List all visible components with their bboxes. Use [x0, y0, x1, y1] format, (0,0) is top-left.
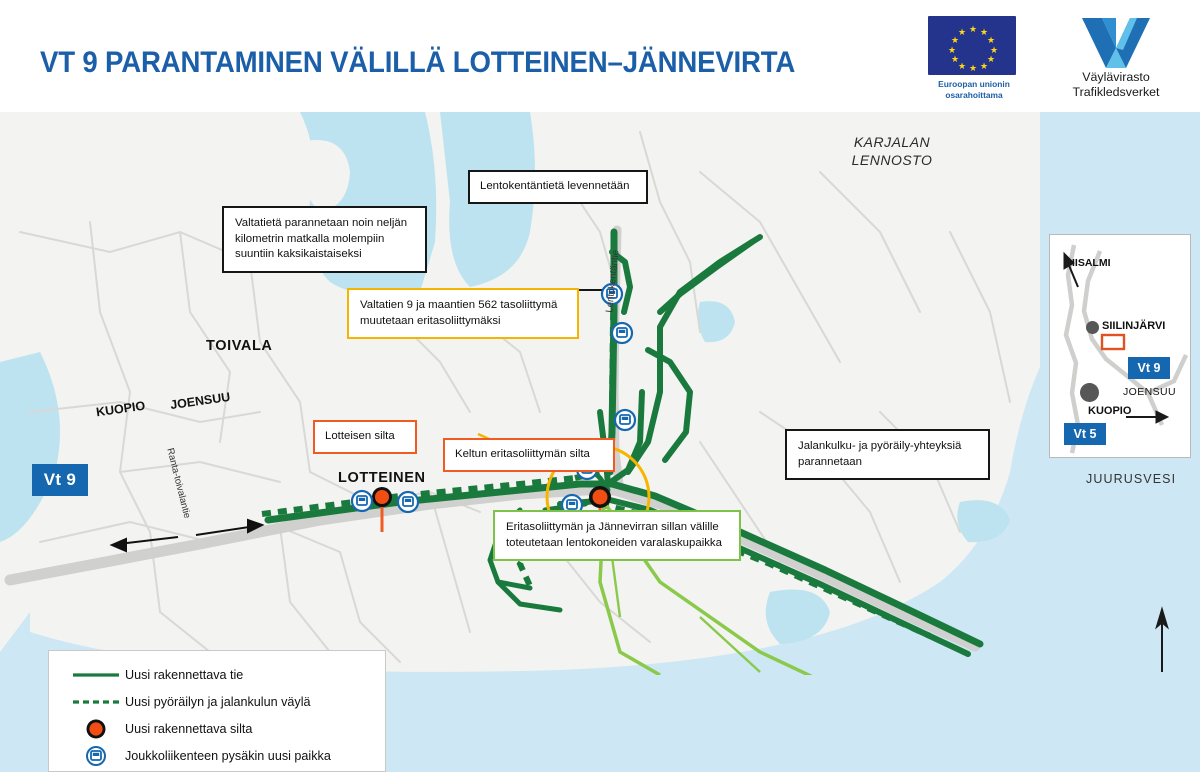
karjalan-line1: KARJALAN	[832, 134, 952, 152]
bus-stop-icon	[67, 744, 125, 768]
vt9-badge: Vt 9	[32, 464, 88, 496]
eu-logo: ★ ★ ★ ★ ★ ★ ★ ★ ★ ★ ★ ★ Euroopan unionin…	[928, 16, 1020, 100]
inset-location-map: IISALMI SIILINJÄRVI KUOPIO JOENSUU Vt 9 …	[1049, 234, 1191, 458]
agency-caption-line2: Trafikledsverket	[1046, 85, 1186, 100]
place-label-lotteinen: LOTTEINEN	[338, 470, 426, 486]
page-header: VT 9 PARANTAMINEN VÄLILLÄ LOTTEINEN–JÄNN…	[0, 0, 1200, 112]
callout-pedestrian-cycling: Jalankulku- ja pyöräily-yhteyksiä parann…	[785, 429, 990, 480]
dashed-green-line-icon	[67, 697, 125, 707]
water-label-juurusvesi: JUURUSVESI	[1086, 472, 1176, 486]
eu-logo-caption: Euroopan unionin osarahoittama	[928, 79, 1020, 100]
place-label-toivala: TOIVALA	[206, 338, 273, 354]
agency-logo: Väylävirasto Trafikledsverket	[1046, 16, 1186, 99]
karjalan-line2: LENNOSTO	[832, 152, 952, 170]
callout-interchange-conversion: Valtatien 9 ja maantien 562 tasoliittymä…	[347, 288, 579, 339]
eu-caption-line1: Euroopan unionin	[928, 79, 1020, 90]
callout-highway-widening: Valtatietä parannetaan noin neljän kilom…	[222, 206, 427, 273]
callout-lotteinen-bridge: Lotteisen silta	[313, 420, 417, 454]
callout-airport-road: Lentokentäntietä levennetään	[468, 170, 648, 204]
callout-emergency-landing-strip: Eritasoliittymän ja Jännevirran sillan v…	[493, 510, 741, 561]
page-title: VT 9 PARANTAMINEN VÄLILLÄ LOTTEINEN–JÄNN…	[40, 46, 795, 80]
project-area-marker	[1102, 335, 1124, 349]
inset-label-joensuu: JOENSUU	[1123, 386, 1176, 398]
eu-caption-line2: osarahoittama	[928, 90, 1020, 101]
legend-label-new-bridge: Uusi rakennettava silta	[125, 722, 252, 736]
legend-item-new-bridge: Uusi rakennettava silta	[67, 715, 385, 742]
legend-label-bus-stop: Joukkoliikenteen pysäkin uusi paikka	[125, 749, 331, 763]
legend-item-bus-stop: Joukkoliikenteen pysäkin uusi paikka	[67, 742, 385, 769]
infographic-map-page: VT 9 PARANTAMINEN VÄLILLÄ LOTTEINEN–JÄNN…	[0, 0, 1200, 675]
orange-dot-icon	[67, 717, 125, 741]
eu-flag-icon: ★ ★ ★ ★ ★ ★ ★ ★ ★ ★ ★ ★	[928, 16, 1016, 75]
inset-label-kuopio: KUOPIO	[1088, 405, 1131, 417]
map-canvas: TOIVALA LOTTEINEN KARJALAN LENNOSTO JUUR…	[0, 112, 1200, 675]
inset-label-iisalmi: IISALMI	[1072, 257, 1111, 269]
map-legend: Uusi rakennettava tie Uusi pyöräilyn ja …	[48, 650, 386, 772]
logo-group: ★ ★ ★ ★ ★ ★ ★ ★ ★ ★ ★ ★ Euroopan unionin…	[928, 16, 1186, 106]
callout-kelttu-bridge: Keltun eritasoliittymän silta	[443, 438, 615, 472]
agency-logo-caption: Väylävirasto Trafikledsverket	[1046, 70, 1186, 99]
inset-vt5-badge: Vt 5	[1064, 423, 1106, 445]
area-label-karjalan-lennosto: KARJALAN LENNOSTO	[832, 134, 952, 169]
inset-dot-siilinjarvi	[1086, 321, 1099, 334]
legend-item-new-cycleway: Uusi pyöräilyn ja jalankulun väylä	[67, 688, 385, 715]
vaylavirasto-v-icon	[1080, 16, 1152, 68]
inset-vt9-badge: Vt 9	[1128, 357, 1170, 379]
inset-dot-kuopio	[1080, 383, 1099, 402]
inset-label-siilinjarvi: SIILINJÄRVI	[1102, 320, 1165, 332]
agency-caption-line1: Väylävirasto	[1046, 70, 1186, 85]
legend-label-new-cycleway: Uusi pyöräilyn ja jalankulun väylä	[125, 695, 311, 709]
